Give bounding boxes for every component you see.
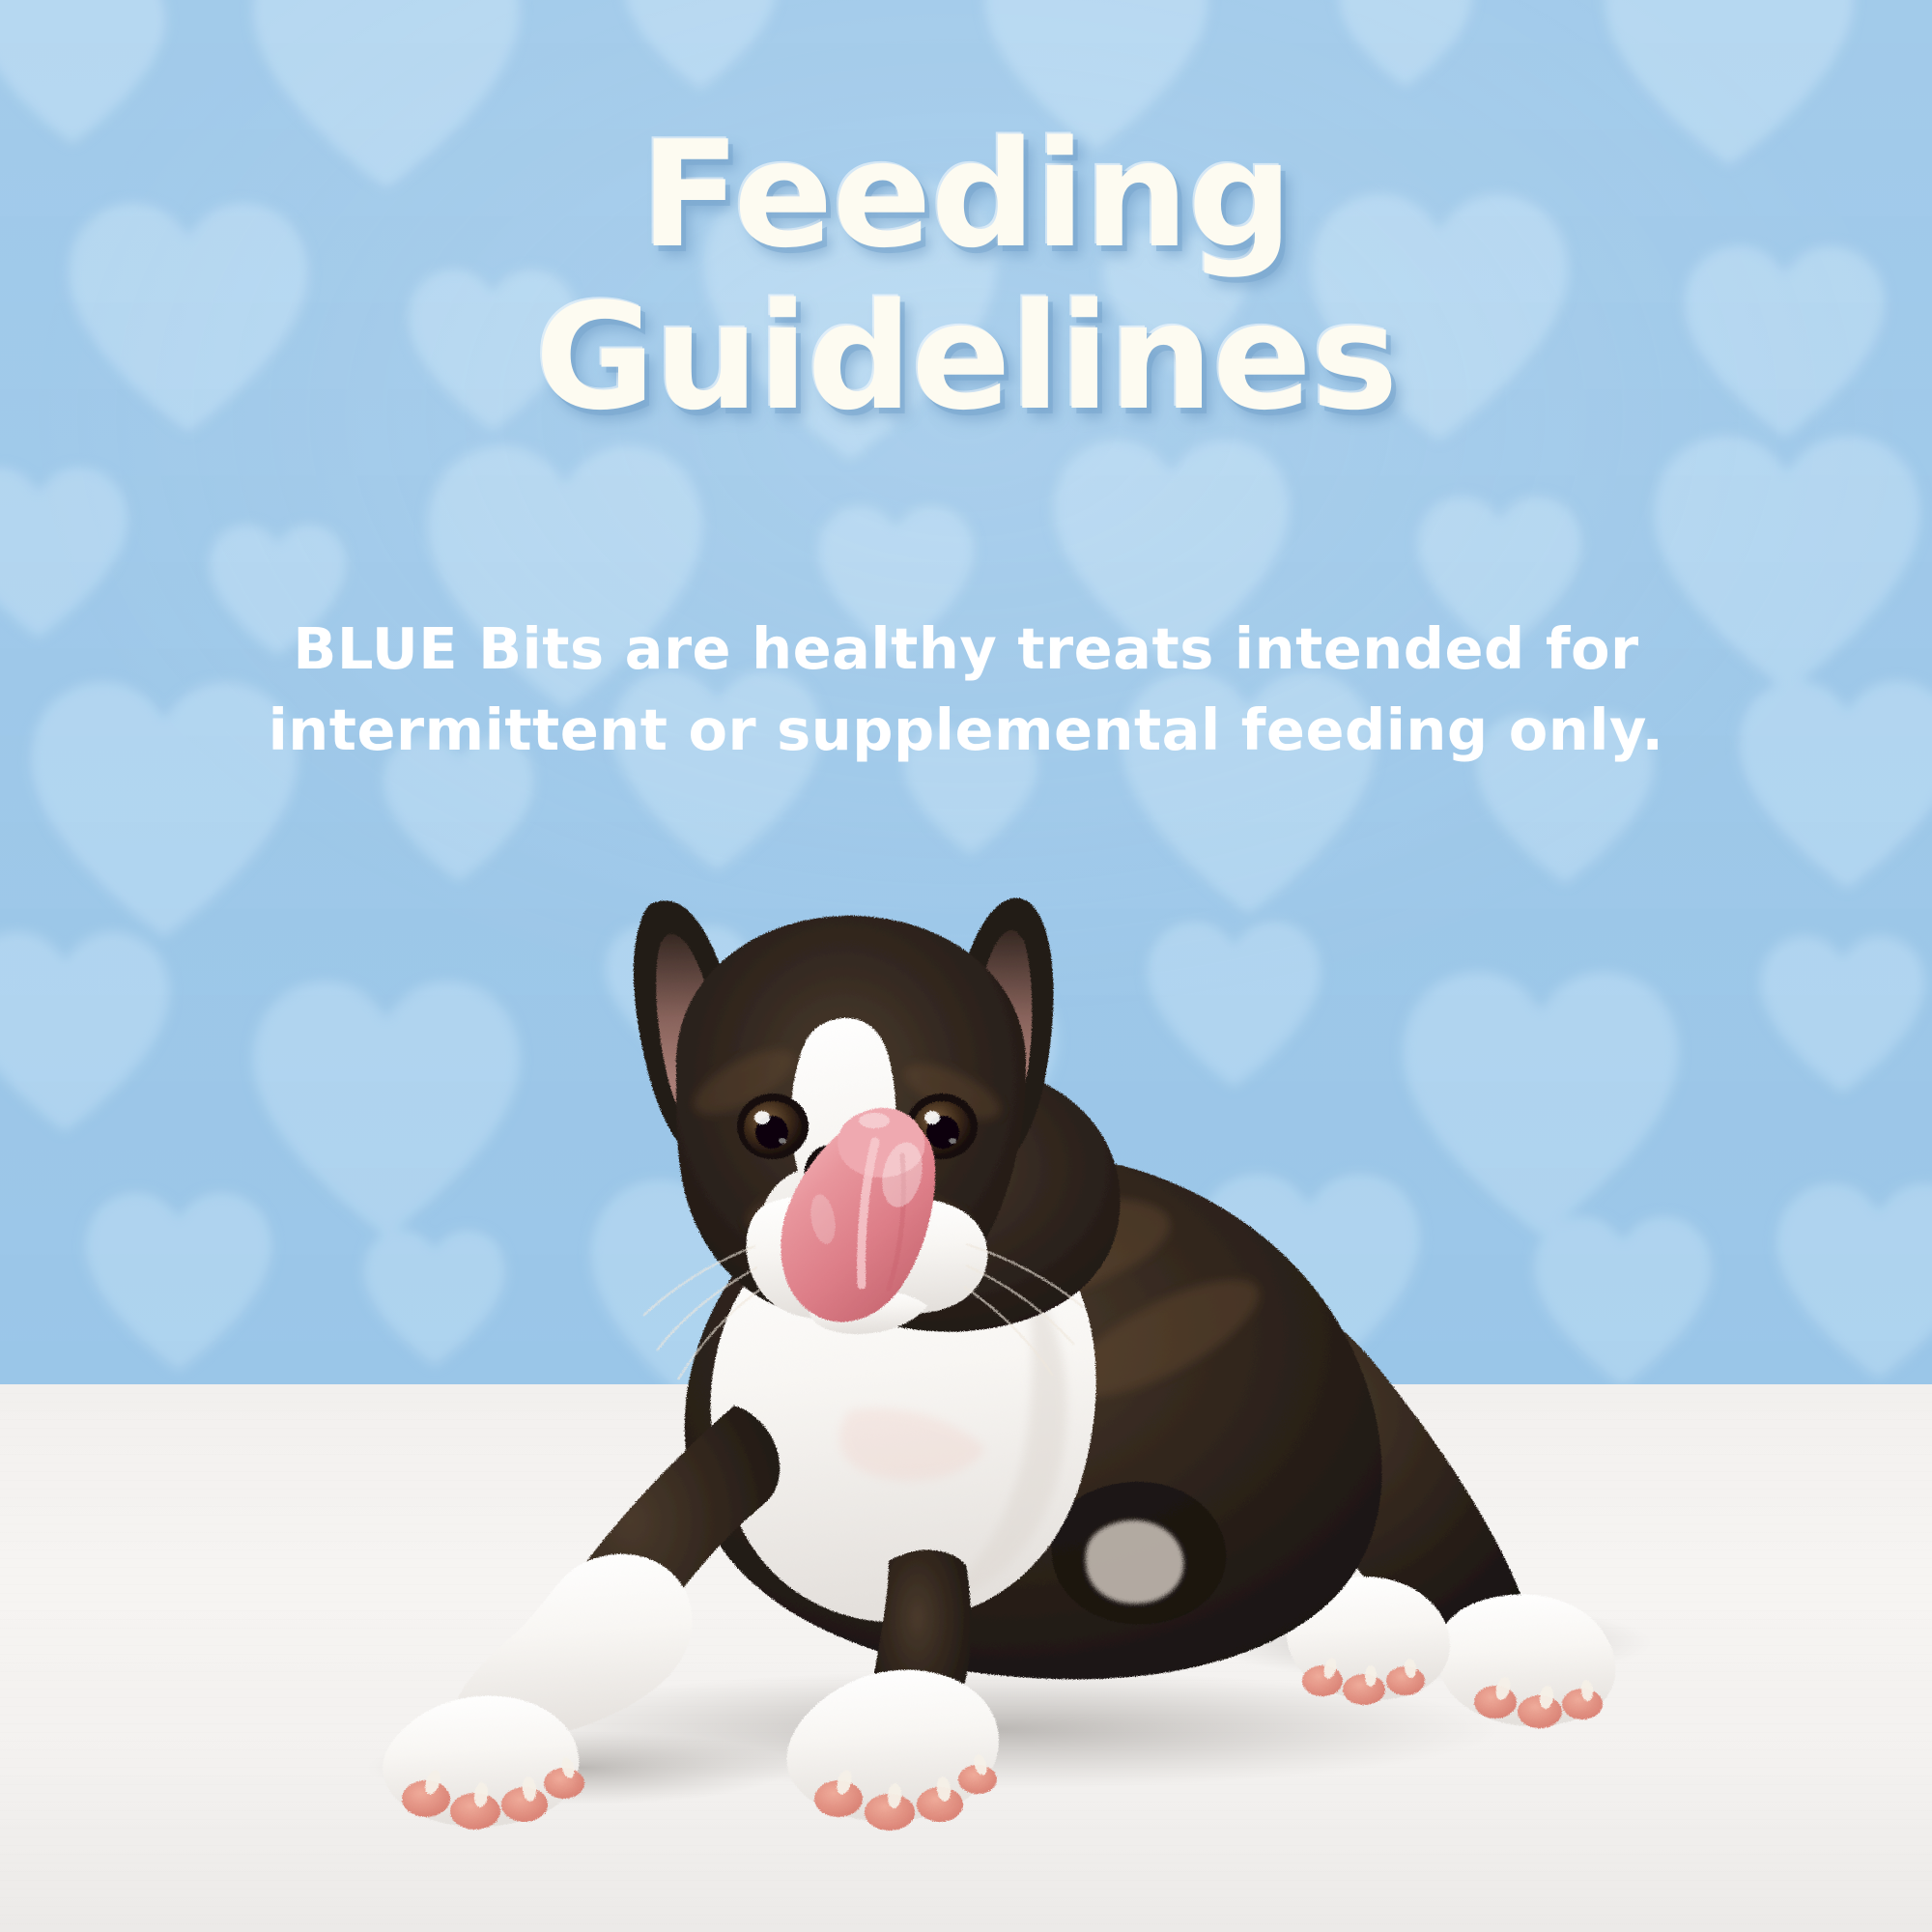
floor-texture (0, 1384, 1932, 1932)
page-title: Feeding Guidelines (0, 114, 1932, 439)
studio-floor (0, 1384, 1932, 1932)
feeding-guidelines-banner: Feeding Guidelines BLUE Bits are healthy… (0, 0, 1932, 1932)
subtitle-line-2: intermittent or supplemental feeding onl… (203, 690, 1729, 771)
title-line-2: Guidelines (0, 276, 1932, 439)
subtitle-line-1: BLUE Bits are healthy treats intended fo… (203, 609, 1729, 690)
subtitle: BLUE Bits are healthy treats intended fo… (0, 609, 1932, 771)
title-line-1: Feeding (0, 114, 1932, 276)
